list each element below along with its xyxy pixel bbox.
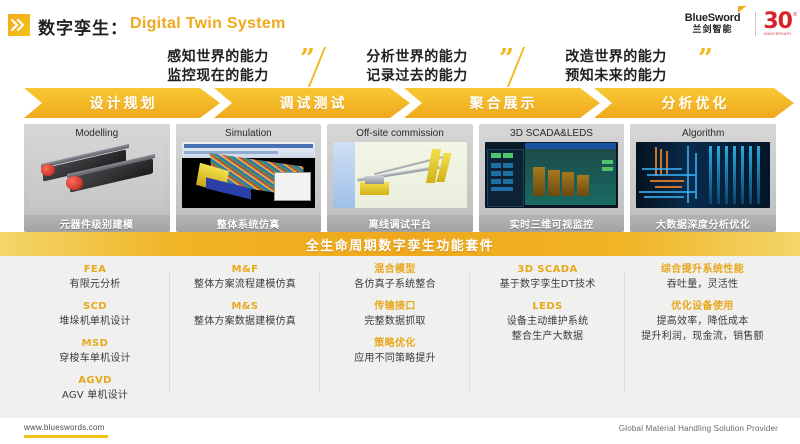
feature-desc: 有限元分析 <box>24 277 166 292</box>
process-stage-bar: 设计规划 调试测试 聚合展示 分析优化 <box>0 88 800 118</box>
feature-group[interactable]: LEDS 设备主动维护系统 整合生产大数据 <box>474 299 621 344</box>
page-title-cn: 数字孪生： <box>38 14 128 39</box>
anniversary-subtext: ANNIVERSARY <box>764 32 792 37</box>
feature-title: 传输接口 <box>324 299 466 314</box>
feature-desc: 提升利润，现金流，销售额 <box>629 329 776 344</box>
feature-desc: 各仿真子系统整合 <box>324 277 466 292</box>
feature-group[interactable]: SCD 堆垛机单机设计 <box>24 299 166 329</box>
feature-desc: 整体方案数据建模仿真 <box>174 314 316 329</box>
stage-label-1: 设计规划 <box>87 93 158 113</box>
feature-title: 混合模型 <box>324 262 466 277</box>
quote-block-2: 分析世界的能力 记录过去的能力 ” <box>327 48 507 86</box>
feature-group[interactable]: 优化设备使用 提高效率，降低成本 提升利润，现金流，销售额 <box>629 299 776 344</box>
capability-card[interactable]: 3D SCADA&LEDS <box>479 124 625 232</box>
feature-group[interactable]: AGVD AGV 单机设计 <box>24 373 166 403</box>
quote-block-3: 改造世界的能力 预知未来的能力 ” <box>526 48 706 86</box>
feature-desc: 整合生产大数据 <box>474 329 621 344</box>
feature-desc: 整体方案流程建模仿真 <box>174 277 316 292</box>
company-logo: BlueSword 兰剑智能 ® 30 ANNIVERSARY <box>685 8 792 40</box>
suite-title: 全生命周期数字孪生功能套件 <box>306 235 495 254</box>
quote-line-3b: 预知未来的能力 <box>526 67 706 86</box>
stage-label-2: 调试测试 <box>277 93 348 113</box>
big-data-thumb <box>636 142 770 208</box>
feature-title: 策略优化 <box>324 336 466 351</box>
feature-column-5: 综合提升系统性能 吞吐量，灵活性 优化设备使用 提高效率，降低成本 提升利润，现… <box>625 262 780 410</box>
feature-columns: FEA 有限元分析 SCD 堆垛机单机设计 MSD 穿梭车单机设计 AGVD A… <box>20 262 780 410</box>
feature-title: FEA <box>24 262 166 277</box>
capability-card[interactable]: Simulation 整体系统仿真 <box>176 124 322 232</box>
feature-title: M&S <box>174 299 316 314</box>
quote-line-2a: 分析世界的能力 <box>327 48 507 67</box>
card-caption: 元器件级别建模 <box>24 215 170 232</box>
quote-line-2b: 记录过去的能力 <box>327 67 507 86</box>
slide-root: 数字孪生： Digital Twin System BlueSword 兰剑智能… <box>0 0 800 444</box>
stage-chevron-2[interactable]: 调试测试 <box>214 88 410 118</box>
feature-group[interactable]: MSD 穿梭车单机设计 <box>24 336 166 366</box>
quote-line-1a: 感知世界的能力 <box>128 48 308 67</box>
machine-render-thumb <box>30 142 164 208</box>
card-caption: 整体系统仿真 <box>176 215 322 232</box>
feature-desc: 穿梭车单机设计 <box>24 351 166 366</box>
trademark-symbol: ® <box>793 12 797 18</box>
feature-title: SCD <box>24 299 166 314</box>
stage-label-3: 聚合展示 <box>467 93 538 113</box>
stage-label-4: 分析优化 <box>659 93 730 113</box>
feature-desc: 吞吐量，灵活性 <box>629 277 776 292</box>
brand-flag-icon <box>738 6 747 13</box>
feature-title: 优化设备使用 <box>629 299 776 314</box>
card-title: Off-site commission <box>356 127 444 140</box>
feature-group[interactable]: 策略优化 应用不同策略提升 <box>324 336 466 366</box>
capability-card[interactable]: Algorithm <box>630 124 776 232</box>
feature-column-3: 混合模型 各仿真子系统整合 传输接口 完整数据抓取 策略优化 应用不同策略提升 <box>320 262 470 410</box>
quote-mark-icon: ” <box>499 54 514 64</box>
brand-name-en: BlueSword <box>685 13 741 24</box>
feature-group[interactable]: 传输接口 完整数据抓取 <box>324 299 466 329</box>
card-title: Algorithm <box>682 127 724 140</box>
brand-name-cn: 兰剑智能 <box>693 25 733 36</box>
slide-header: 数字孪生： Digital Twin System BlueSword 兰剑智能… <box>0 0 800 46</box>
feature-title: MSD <box>24 336 166 351</box>
quote-mark-icon: ” <box>300 54 315 64</box>
feature-title: M&F <box>174 262 316 277</box>
feature-group[interactable]: M&S 整体方案数据建模仿真 <box>174 299 316 329</box>
anniversary-badge: ® 30 ANNIVERSARY <box>763 12 792 37</box>
feature-desc: 基于数字孪生DT技术 <box>474 277 621 292</box>
feature-desc: 应用不同策略提升 <box>324 351 466 366</box>
capability-card[interactable]: Off-site commission 离线调试平台 <box>327 124 473 232</box>
suite-title-bar: 全生命周期数字孪生功能套件 <box>0 232 800 256</box>
feature-title: AGVD <box>24 373 166 388</box>
quote-mark-icon: ” <box>698 54 713 64</box>
scada-dashboard-thumb <box>485 142 619 208</box>
feature-column-4: 3D SCADA 基于数字孪生DT技术 LEDS 设备主动维护系统 整合生产大数… <box>470 262 625 410</box>
footer-website-link[interactable]: www.blueswords.com <box>24 423 105 432</box>
card-caption: 离线调试平台 <box>327 215 473 232</box>
feature-desc: 设备主动维护系统 <box>474 314 621 329</box>
feature-group[interactable]: FEA 有限元分析 <box>24 262 166 292</box>
feature-column-1: FEA 有限元分析 SCD 堆垛机单机设计 MSD 穿梭车单机设计 AGVD A… <box>20 262 170 410</box>
quote-line-1b: 监控现在的能力 <box>128 67 308 86</box>
stage-chevron-1[interactable]: 设计规划 <box>24 88 220 118</box>
feature-title: 3D SCADA <box>474 262 621 277</box>
card-caption: 实时三维可视监控 <box>479 215 625 232</box>
offline-commission-thumb <box>333 142 467 208</box>
feature-title: 综合提升系统性能 <box>629 262 776 277</box>
page-title-en: Digital Twin System <box>130 15 286 33</box>
feature-group[interactable]: M&F 整体方案流程建模仿真 <box>174 262 316 292</box>
card-caption: 大数据深度分析优化 <box>630 215 776 232</box>
capability-quotes: 感知世界的能力 监控现在的能力 ” 分析世界的能力 记录过去的能力 ” 改造世界… <box>0 46 800 88</box>
feature-group[interactable]: 3D SCADA 基于数字孪生DT技术 <box>474 262 621 292</box>
stage-chevron-3[interactable]: 聚合展示 <box>404 88 600 118</box>
quote-block-1: 感知世界的能力 监控现在的能力 ” <box>128 48 308 86</box>
feature-desc: 提高效率，降低成本 <box>629 314 776 329</box>
anniversary-number: 30 <box>763 12 792 32</box>
feature-desc: 堆垛机单机设计 <box>24 314 166 329</box>
slide-footer: www.blueswords.com Global Material Handl… <box>0 418 800 444</box>
fem-simulation-thumb <box>182 142 316 208</box>
feature-column-2: M&F 整体方案流程建模仿真 M&S 整体方案数据建模仿真 <box>170 262 320 410</box>
feature-panel: FEA 有限元分析 SCD 堆垛机单机设计 MSD 穿梭车单机设计 AGVD A… <box>0 256 800 418</box>
stage-chevron-4[interactable]: 分析优化 <box>594 88 794 118</box>
feature-group[interactable]: 综合提升系统性能 吞吐量，灵活性 <box>629 262 776 292</box>
feature-title: LEDS <box>474 299 621 314</box>
capability-card-row: Modelling 元器件级别建模 Simulation <box>24 124 776 232</box>
footer-tagline: Global Material Handling Solution Provid… <box>619 424 778 433</box>
feature-group[interactable]: 混合模型 各仿真子系统整合 <box>324 262 466 292</box>
card-title: Simulation <box>225 127 272 140</box>
feature-desc: AGV 单机设计 <box>24 388 166 403</box>
brand-lockup: BlueSword 兰剑智能 <box>685 13 749 36</box>
card-title: Modelling <box>75 127 118 140</box>
capability-card[interactable]: Modelling 元器件级别建模 <box>24 124 170 232</box>
card-title: 3D SCADA&LEDS <box>510 127 593 140</box>
quote-line-3a: 改造世界的能力 <box>526 48 706 67</box>
double-chevron-icon <box>8 14 30 36</box>
feature-desc: 完整数据抓取 <box>324 314 466 329</box>
logo-divider <box>755 12 756 36</box>
footer-underline <box>24 435 108 438</box>
